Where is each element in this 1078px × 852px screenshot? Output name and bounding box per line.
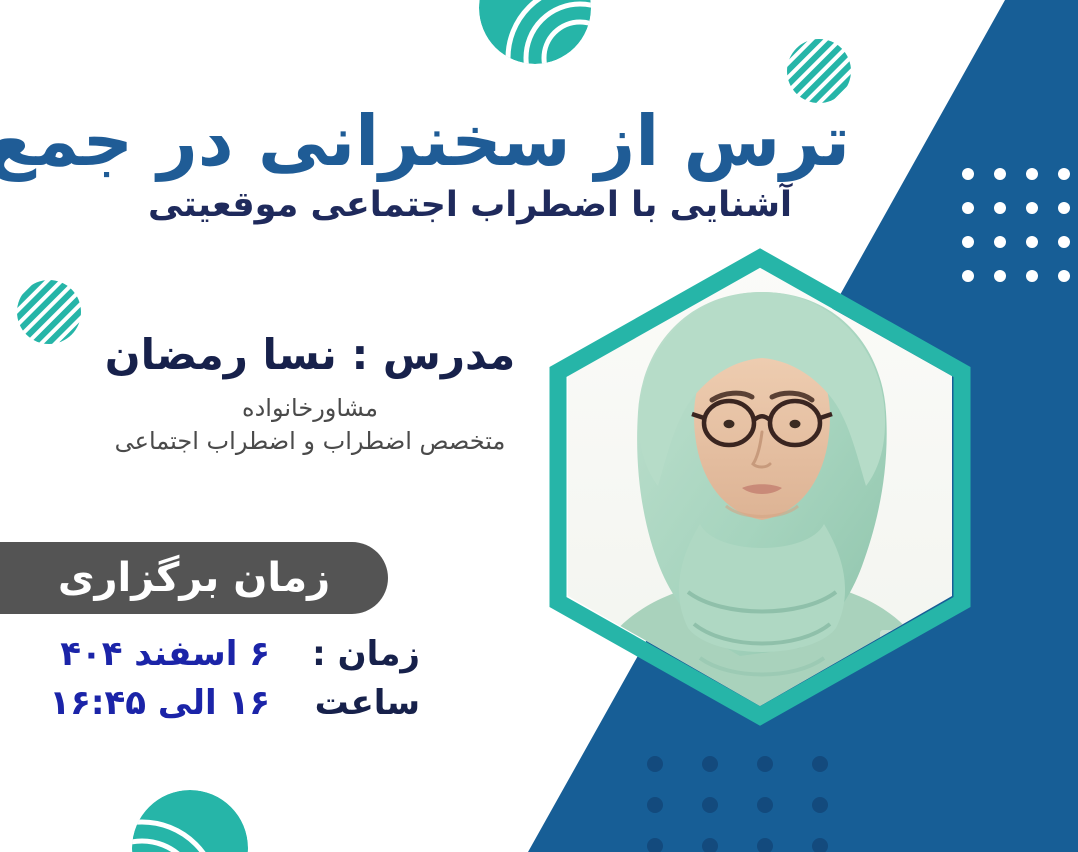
schedule-row-date: زمان : ۶ اسفند ۴۰۴ <box>20 630 420 679</box>
instructor-block: مدرس : نسا رمضان مشاورخانواده متخصص اضطر… <box>70 330 550 457</box>
event-poster: ترس از سخنرانی در جمع آشنایی با اضطراب ا… <box>0 0 1078 852</box>
page-title: ترس از سخنرانی در جمع <box>90 104 850 180</box>
instructor-name: مدرس : نسا رمضان <box>70 330 550 380</box>
page-subtitle: آشنایی با اضطراب اجتماعی موقعیتی <box>90 184 850 228</box>
schedule-time-value: ۱۶ الی ۱۶:۴۵ <box>49 679 270 728</box>
instructor-role: مشاورخانواده <box>70 392 550 424</box>
schedule-block: زمان : ۶ اسفند ۴۰۴ ساعت ۱۶ الی ۱۶:۴۵ <box>20 630 420 729</box>
event-time-badge-label: زمان برگزاری <box>58 555 330 601</box>
schedule-date-label: زمان : <box>270 630 420 679</box>
title-block: ترس از سخنرانی در جمع آشنایی با اضطراب ا… <box>90 104 850 227</box>
instructor-specialty: متخصص اضطراب و اضطراب اجتماعی <box>70 425 550 457</box>
schedule-row-time: ساعت ۱۶ الی ۱۶:۴۵ <box>20 679 420 728</box>
event-time-badge: زمان برگزاری <box>0 542 388 614</box>
schedule-date-value: ۶ اسفند ۴۰۴ <box>60 630 270 679</box>
schedule-time-label: ساعت <box>270 679 420 728</box>
